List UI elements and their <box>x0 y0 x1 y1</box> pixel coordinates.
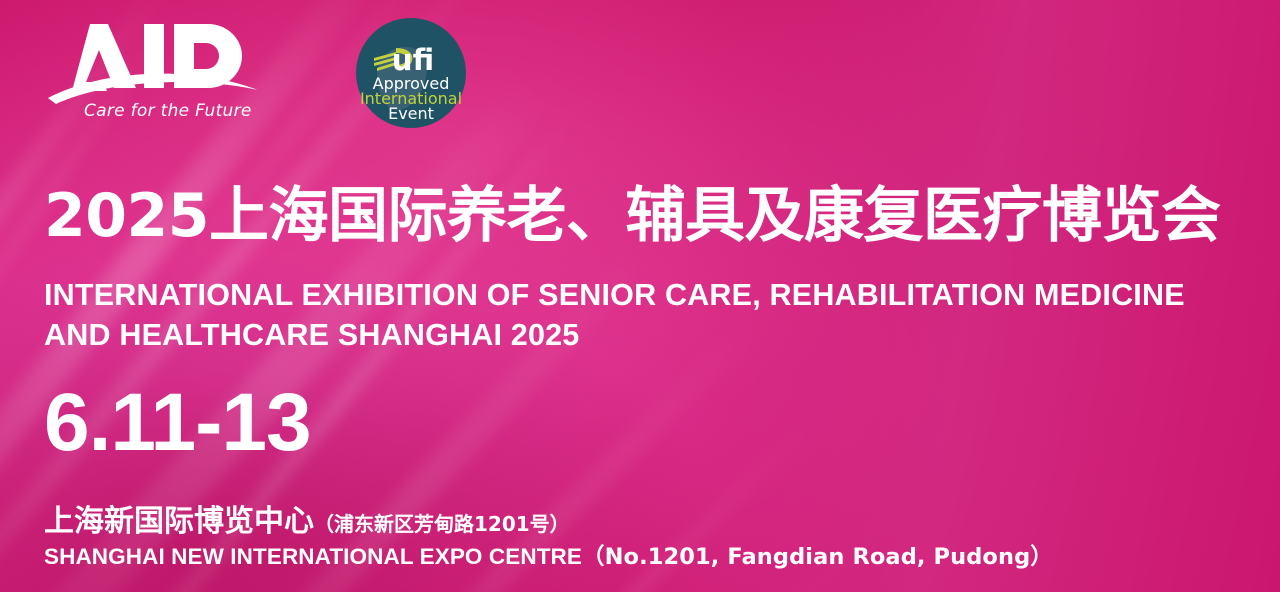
svg-text:Event: Event <box>388 104 434 123</box>
event-title-english-line2: AND HEALTHCARE SHANGHAI 2025 <box>44 315 1185 355</box>
venue-english-name: SHANGHAI NEW INTERNATIONAL EXPO CENTRE <box>44 544 582 569</box>
event-title-english: INTERNATIONAL EXHIBITION OF SENIOR CARE,… <box>44 275 1185 355</box>
event-title-english-line1: INTERNATIONAL EXHIBITION OF SENIOR CARE,… <box>44 275 1185 315</box>
venue-english-address: （No.1201, Fangdian Road, Pudong） <box>582 544 1053 570</box>
venue-chinese-address: （浦东新区芳甸路1201号） <box>314 512 570 536</box>
svg-text:Care for the Future: Care for the Future <box>84 101 252 120</box>
banner-content: Care for the Future ufi Approved Interna… <box>0 0 1280 592</box>
venue-chinese: 上海新国际博览中心（浦东新区芳甸路1201号） <box>44 496 570 540</box>
ufi-approved-event-badge: ufi Approved International Event <box>356 18 466 128</box>
event-banner: Care for the Future ufi Approved Interna… <box>0 0 1280 592</box>
logo-row: Care for the Future ufi Approved Interna… <box>46 12 466 128</box>
aid-logo: Care for the Future <box>46 12 260 120</box>
svg-text:ufi: ufi <box>392 43 434 77</box>
venue-english: SHANGHAI NEW INTERNATIONAL EXPO CENTRE（N… <box>44 539 1053 571</box>
event-title-chinese: 2025上海国际养老、辅具及康复医疗博览会 <box>44 186 1221 246</box>
event-date: 6.11-13 <box>44 382 311 464</box>
venue-chinese-name: 上海新国际博览中心 <box>44 504 314 539</box>
